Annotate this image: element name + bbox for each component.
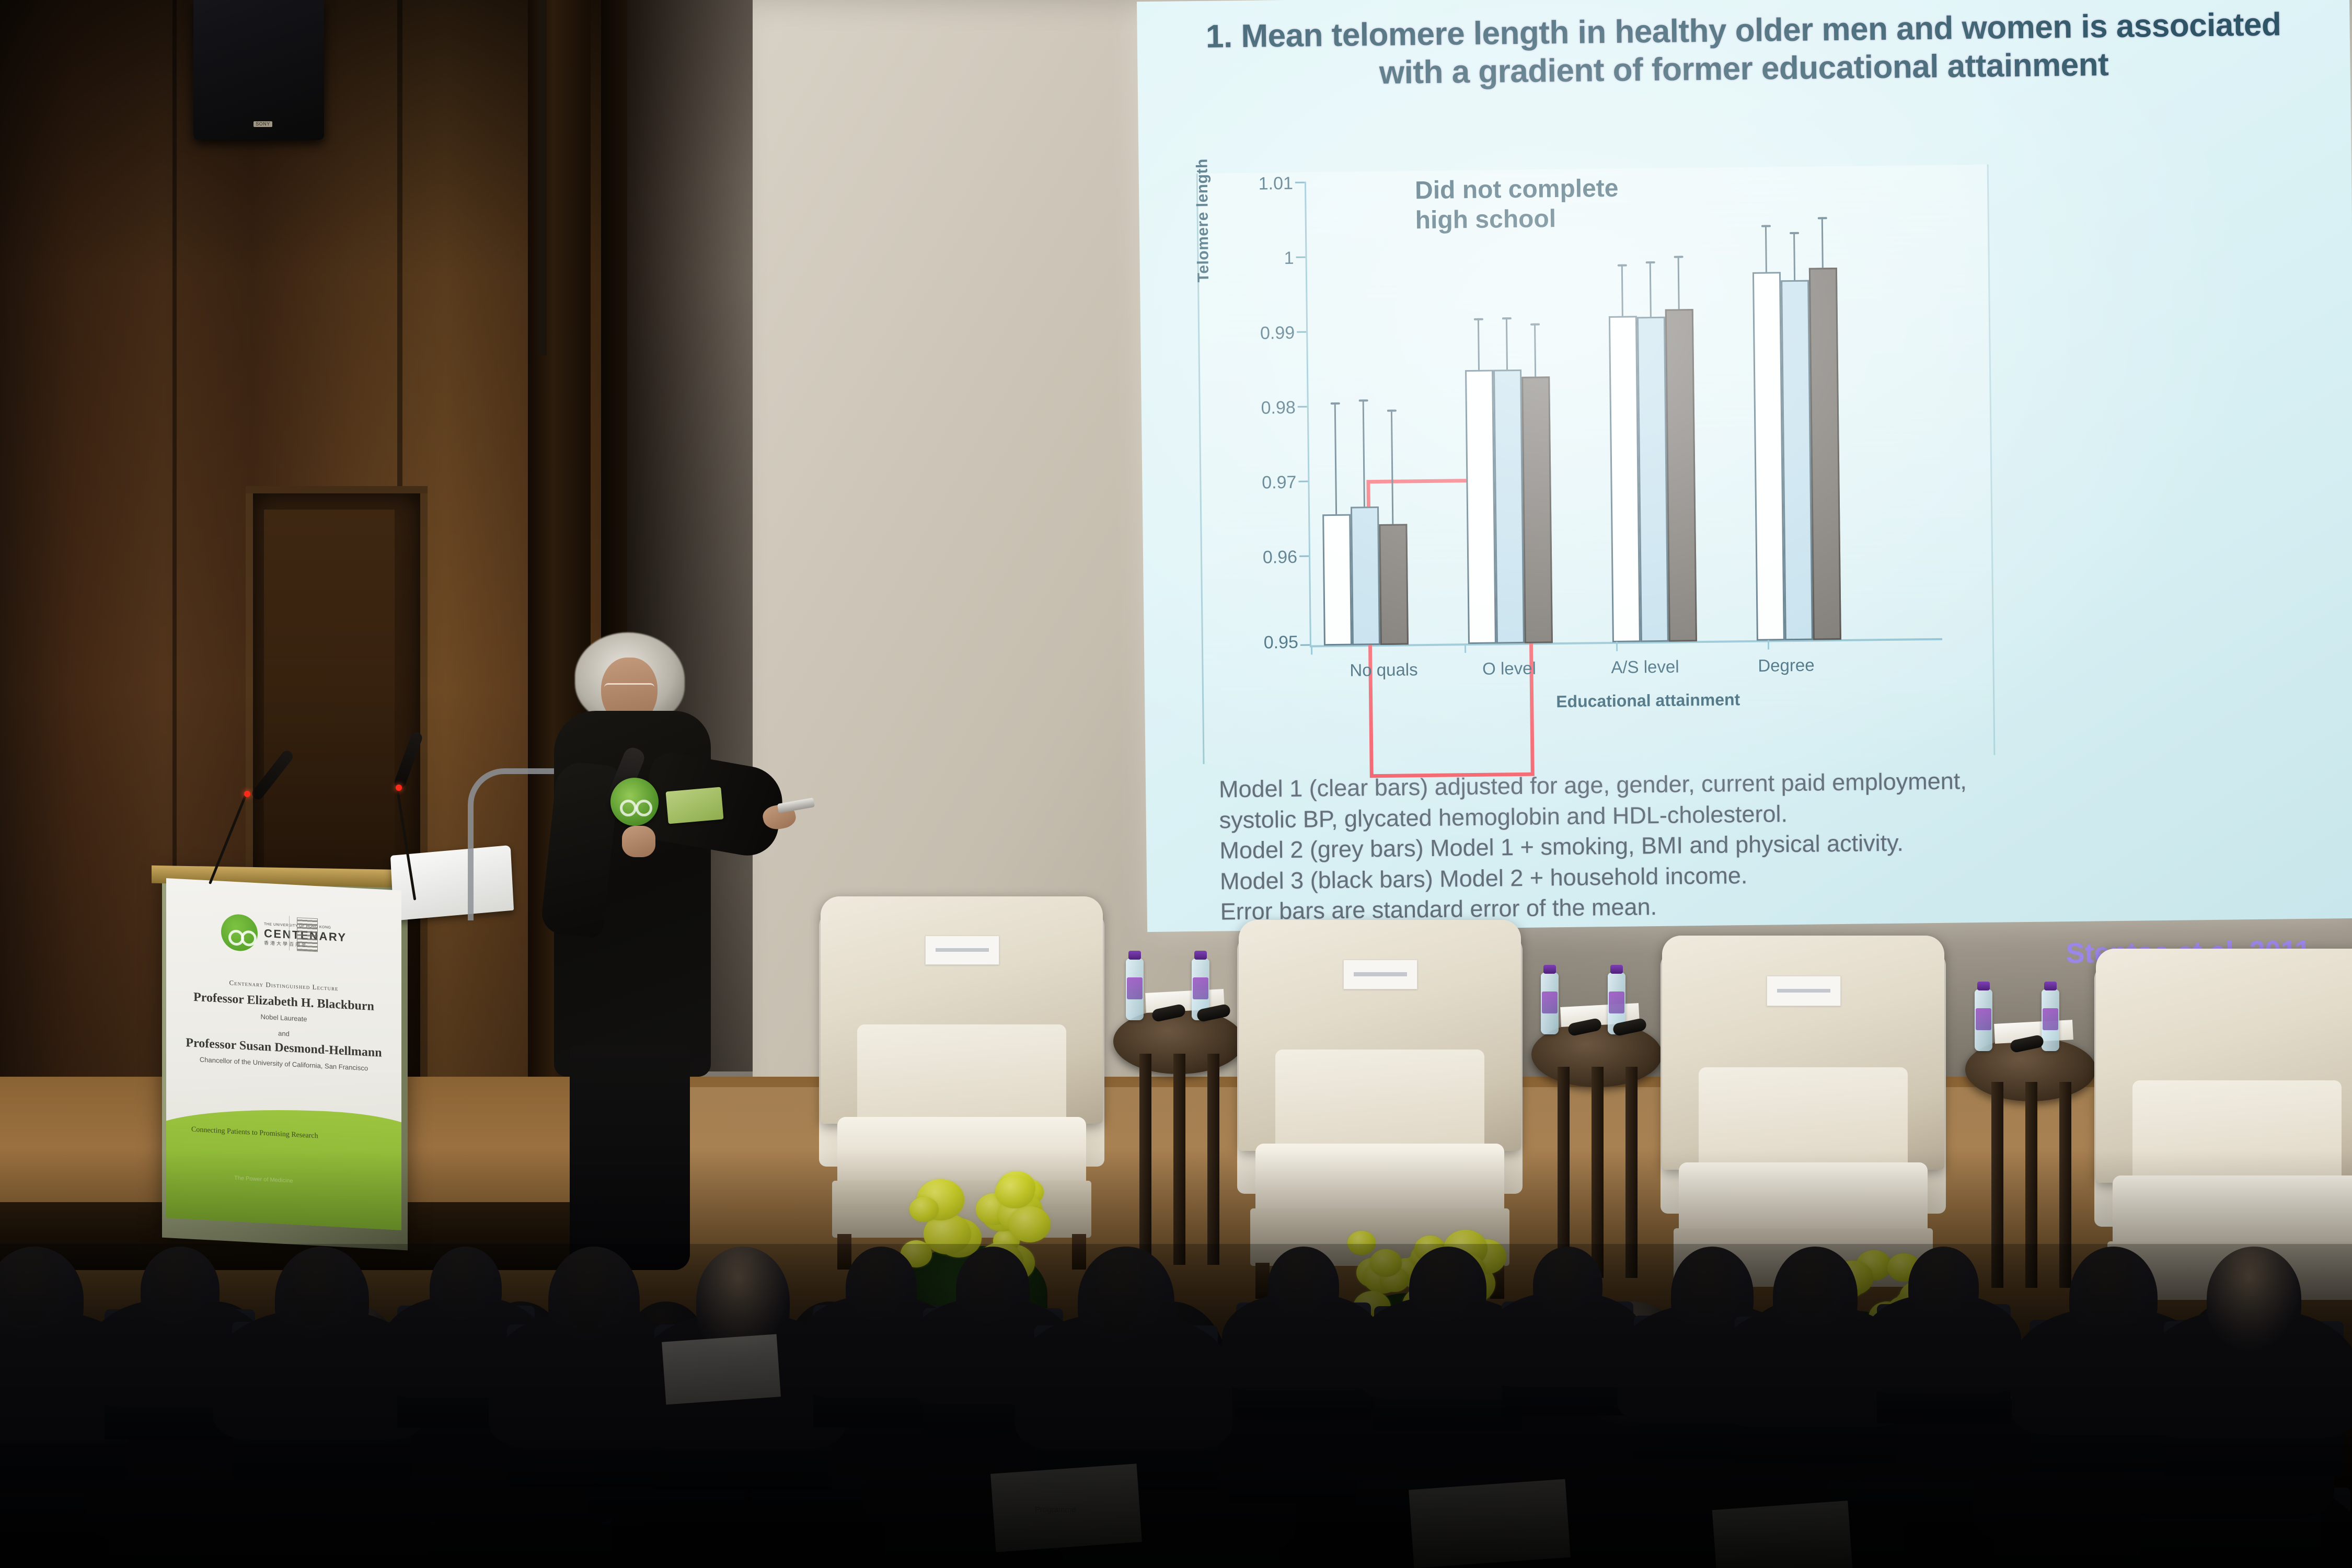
bar-3 bbox=[1664, 177, 1697, 642]
mic-led-indicator bbox=[396, 785, 402, 791]
bar-3 bbox=[1375, 180, 1409, 645]
error-bar-cap bbox=[1761, 225, 1771, 227]
error-bar bbox=[1334, 402, 1337, 514]
error-bar bbox=[1363, 400, 1365, 507]
chair-cushion bbox=[1275, 1050, 1484, 1158]
y-tick-mark bbox=[1295, 182, 1305, 183]
slide-body-text: Model 1 (clear bars) adjusted for age, g… bbox=[1219, 762, 2297, 927]
glasses-icon bbox=[604, 683, 654, 693]
bar-rect bbox=[1609, 316, 1641, 642]
bottle-cap bbox=[2044, 982, 2057, 990]
water-bottle[interactable] bbox=[1541, 973, 1559, 1034]
bottle-cap bbox=[1194, 951, 1207, 960]
y-tick-label: 0.98 bbox=[1217, 398, 1296, 419]
error-bar bbox=[1534, 324, 1536, 377]
mic-led-indicator bbox=[244, 791, 250, 797]
error-bar bbox=[1821, 217, 1824, 268]
bar-1 bbox=[1607, 178, 1641, 642]
bar-1 bbox=[1463, 180, 1496, 644]
y-tick-label: 1 bbox=[1215, 248, 1294, 270]
bar-rect bbox=[1781, 280, 1813, 640]
water-bottle[interactable] bbox=[1126, 959, 1144, 1020]
bottle-label bbox=[1542, 991, 1558, 1013]
x-category-o-level: O level bbox=[1441, 658, 1577, 679]
y-axis-label: Telomere length bbox=[1193, 111, 1213, 330]
bar-rect bbox=[1521, 376, 1553, 643]
x-tick-mark bbox=[1616, 642, 1618, 651]
error-bar-cap bbox=[1530, 324, 1540, 326]
x-category-as-level: A/S level bbox=[1577, 656, 1713, 678]
bottle-cap bbox=[1610, 965, 1623, 974]
bar-2 bbox=[1635, 178, 1669, 642]
bar-rect bbox=[1665, 309, 1697, 641]
projected-slide: 1. Mean telomere length in healthy older… bbox=[1137, 0, 2352, 932]
presenter-name-badge bbox=[665, 787, 723, 824]
bottle-label bbox=[1609, 991, 1624, 1013]
bar-rect bbox=[1809, 268, 1841, 640]
y-tick-mark bbox=[1298, 406, 1307, 408]
y-tick-label: 0.97 bbox=[1218, 472, 1296, 494]
bar-plot bbox=[1306, 175, 1944, 646]
bar-3 bbox=[1519, 179, 1553, 643]
microphone-hku-flag-icon bbox=[610, 778, 659, 826]
bottle-label bbox=[1976, 1008, 1991, 1030]
error-bar bbox=[1678, 256, 1680, 309]
slide-title: 1. Mean telomere length in healthy older… bbox=[1173, 5, 2314, 95]
hku-seal-icon bbox=[297, 917, 318, 952]
chair-name-card bbox=[1767, 976, 1841, 1006]
error-bar bbox=[1793, 232, 1795, 280]
water-bottle[interactable] bbox=[2042, 989, 2059, 1051]
hku-centenary-logo: THE UNIVERSITY OF HONG KONG CENTENARY 香港… bbox=[221, 914, 347, 957]
audience-darkening bbox=[0, 1150, 2352, 1568]
error-bar bbox=[1650, 261, 1652, 317]
bar-group-a-s-level bbox=[1607, 177, 1697, 642]
error-bar bbox=[1391, 410, 1393, 524]
chair-name-card bbox=[1343, 960, 1417, 989]
x-tick-mark bbox=[1465, 643, 1466, 653]
speaker-brand-badge: SONY bbox=[253, 121, 272, 127]
bottle-cap bbox=[1128, 951, 1141, 960]
bar-rect bbox=[1637, 317, 1669, 642]
error-bar bbox=[1506, 317, 1508, 370]
bar-group-degree bbox=[1751, 176, 1841, 641]
x-tick-mark bbox=[1768, 640, 1769, 650]
chair-name-card bbox=[925, 936, 999, 965]
error-bar-cap bbox=[1618, 264, 1627, 266]
y-tick-label: 0.96 bbox=[1219, 547, 1297, 569]
bar-rect bbox=[1753, 272, 1785, 641]
error-bar-cap bbox=[1818, 217, 1827, 219]
y-tick-label: 0.95 bbox=[1220, 632, 1298, 654]
error-bar-cap bbox=[1790, 232, 1799, 234]
y-tick-label: 0.99 bbox=[1216, 323, 1295, 344]
x-category-degree: Degree bbox=[1718, 655, 1854, 676]
bar-group-no-quals bbox=[1319, 180, 1409, 645]
hku-100-icon bbox=[221, 914, 258, 952]
bar-rect bbox=[1465, 370, 1496, 644]
bar-rect bbox=[1351, 506, 1380, 645]
bar-2 bbox=[1491, 179, 1525, 644]
chair-cushion bbox=[857, 1024, 1066, 1131]
name-card-text bbox=[936, 948, 988, 952]
error-bar bbox=[1478, 318, 1480, 370]
bar-1 bbox=[1751, 176, 1785, 641]
ceiling-support-rod bbox=[538, 0, 547, 355]
bottle-label bbox=[1127, 977, 1143, 999]
lecture-hall-photo: SONY 1. Mean telomere length in healthy … bbox=[0, 0, 2352, 1568]
error-bar bbox=[1765, 225, 1767, 272]
logo-divider bbox=[289, 916, 290, 950]
name-card-text bbox=[1777, 989, 1830, 993]
presenter-left-hand bbox=[622, 826, 655, 857]
error-bar-cap bbox=[1474, 318, 1483, 320]
x-category-no-quals: No quals bbox=[1316, 659, 1451, 681]
error-bar-cap bbox=[1359, 399, 1368, 401]
bar-rect bbox=[1322, 514, 1352, 645]
name-card-text bbox=[1354, 972, 1406, 976]
error-bar-cap bbox=[1646, 261, 1655, 263]
y-tick-mark bbox=[1297, 331, 1306, 333]
ceiling-speaker bbox=[193, 0, 324, 140]
bar-2 bbox=[1347, 181, 1380, 645]
bar-rect bbox=[1379, 524, 1409, 645]
error-bar-cap bbox=[1331, 402, 1340, 404]
x-axis-label: Educational attainment bbox=[1449, 689, 1847, 713]
y-tick-mark bbox=[1296, 257, 1306, 258]
y-tick-label: 1.01 bbox=[1215, 174, 1293, 195]
error-bar-cap bbox=[1674, 256, 1684, 258]
bar-1 bbox=[1319, 181, 1352, 646]
bottle-cap bbox=[1977, 982, 1990, 990]
bar-rect bbox=[1493, 370, 1525, 644]
bottle-cap bbox=[1543, 965, 1556, 974]
bar-2 bbox=[1780, 176, 1813, 641]
bar-3 bbox=[1808, 176, 1841, 640]
error-bar-cap bbox=[1387, 410, 1397, 412]
water-bottle[interactable] bbox=[1975, 989, 1992, 1051]
chart-area: Telomere length 1.01 1 0.99 0.98 0.97 0.… bbox=[1196, 165, 1996, 764]
bottle-label bbox=[2043, 1008, 2058, 1030]
bar-group-o-level bbox=[1463, 179, 1553, 644]
error-bar bbox=[1621, 264, 1623, 316]
y-tick-mark bbox=[1299, 556, 1309, 557]
error-bar-cap bbox=[1502, 317, 1512, 319]
x-tick-mark bbox=[1311, 645, 1312, 654]
bottle-label bbox=[1193, 977, 1208, 999]
y-tick-mark bbox=[1298, 481, 1308, 482]
y-tick-mark bbox=[1300, 644, 1310, 646]
